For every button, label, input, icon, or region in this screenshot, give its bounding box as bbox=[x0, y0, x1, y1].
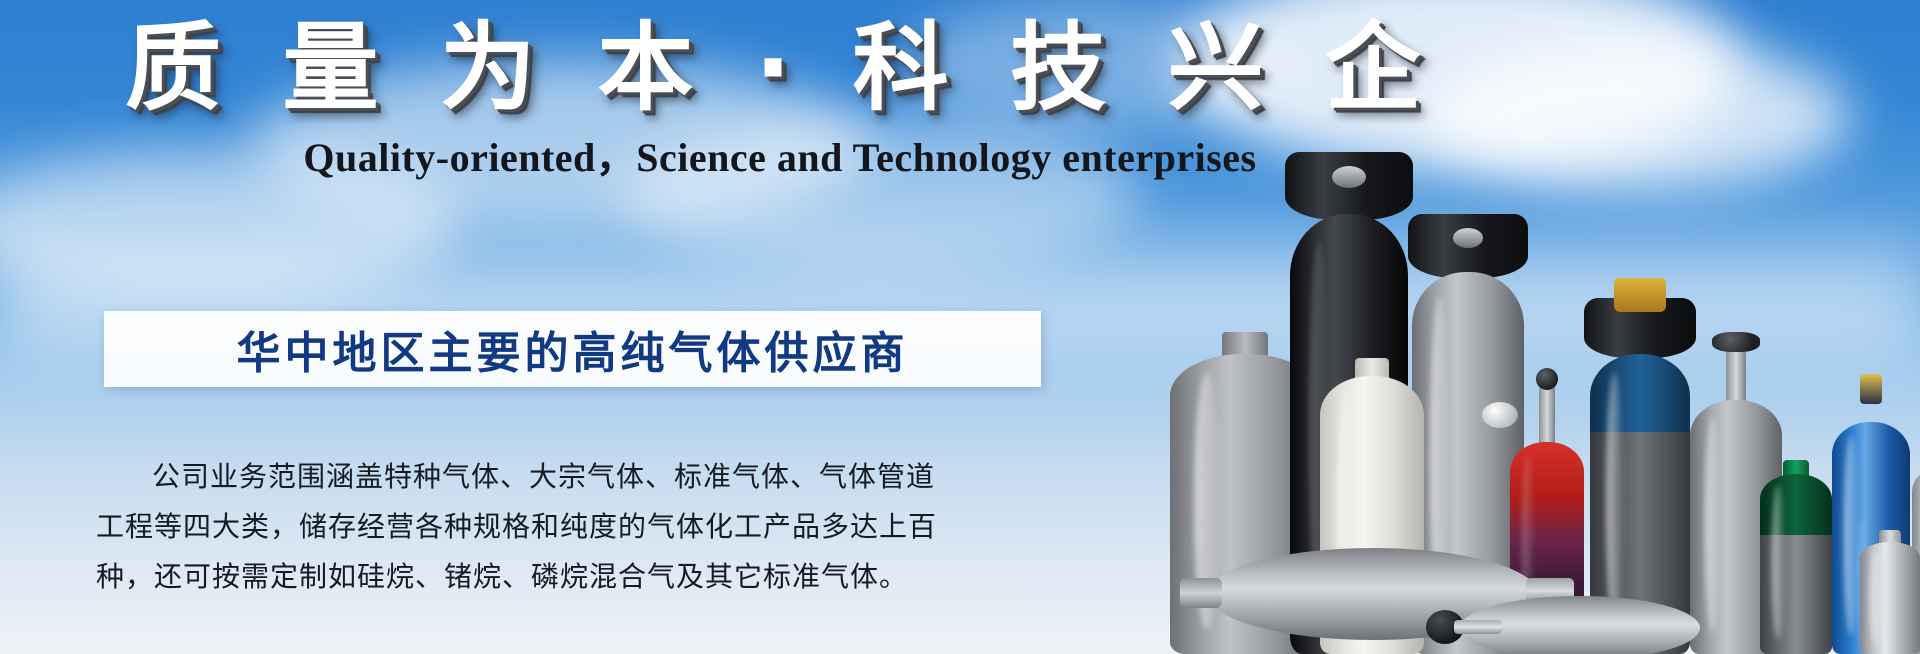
brass-valve-icon bbox=[1614, 278, 1666, 312]
small-silver-bottle bbox=[1860, 542, 1920, 654]
cylinder-highlight bbox=[1772, 485, 1784, 640]
valve-wheel-icon bbox=[1453, 228, 1483, 248]
green-aluminium-cylinder bbox=[1760, 474, 1832, 654]
cylinder-neck bbox=[1539, 384, 1555, 444]
valve-wheel-icon bbox=[1536, 368, 1558, 390]
body-line: 工程等四大类，储存经营各种规格和纯度的气体化工产品多达上百 bbox=[96, 502, 1056, 552]
body-line: 公司业务范围涵盖特种气体、大宗气体、标准气体、气体管道 bbox=[96, 452, 1056, 502]
slogan-box: 华中地区主要的高纯气体供应商 bbox=[104, 311, 1041, 387]
yellow-valve-icon bbox=[1860, 374, 1882, 404]
cylinder-highlight bbox=[1705, 415, 1721, 633]
regulator-gauge-icon bbox=[1482, 402, 1518, 428]
cylinder-body bbox=[1760, 474, 1832, 654]
body-copy: 公司业务范围涵盖特种气体、大宗气体、标准气体、气体管道 工程等四大类，储存经营各… bbox=[96, 452, 1056, 602]
valve-wheel-icon bbox=[1332, 166, 1366, 188]
cylinder-highlight bbox=[1870, 549, 1880, 645]
small-horizontal-tank bbox=[1460, 596, 1700, 654]
tank-end-cap bbox=[1180, 578, 1222, 608]
gas-cylinder-photo-cluster bbox=[1160, 134, 1920, 654]
promotional-banner: 质 量 为 本 · 科 技 兴 企 Quality-oriented，Scien… bbox=[0, 0, 1920, 654]
slogan-text: 华中地区主要的高纯气体供应商 bbox=[237, 317, 909, 381]
tank-stem bbox=[1454, 620, 1502, 634]
page-title: 质 量 为 本 · 科 技 兴 企 bbox=[0, 18, 1560, 119]
cylinder-body bbox=[1860, 542, 1920, 654]
body-line: 种，还可按需定制如硅烷、锗烷、磷烷混合气及其它标准气体。 bbox=[96, 552, 1056, 602]
cylinder-neck bbox=[1726, 350, 1746, 402]
valve-wheel-icon bbox=[1712, 332, 1760, 352]
cylinder-highlight bbox=[1606, 372, 1623, 630]
